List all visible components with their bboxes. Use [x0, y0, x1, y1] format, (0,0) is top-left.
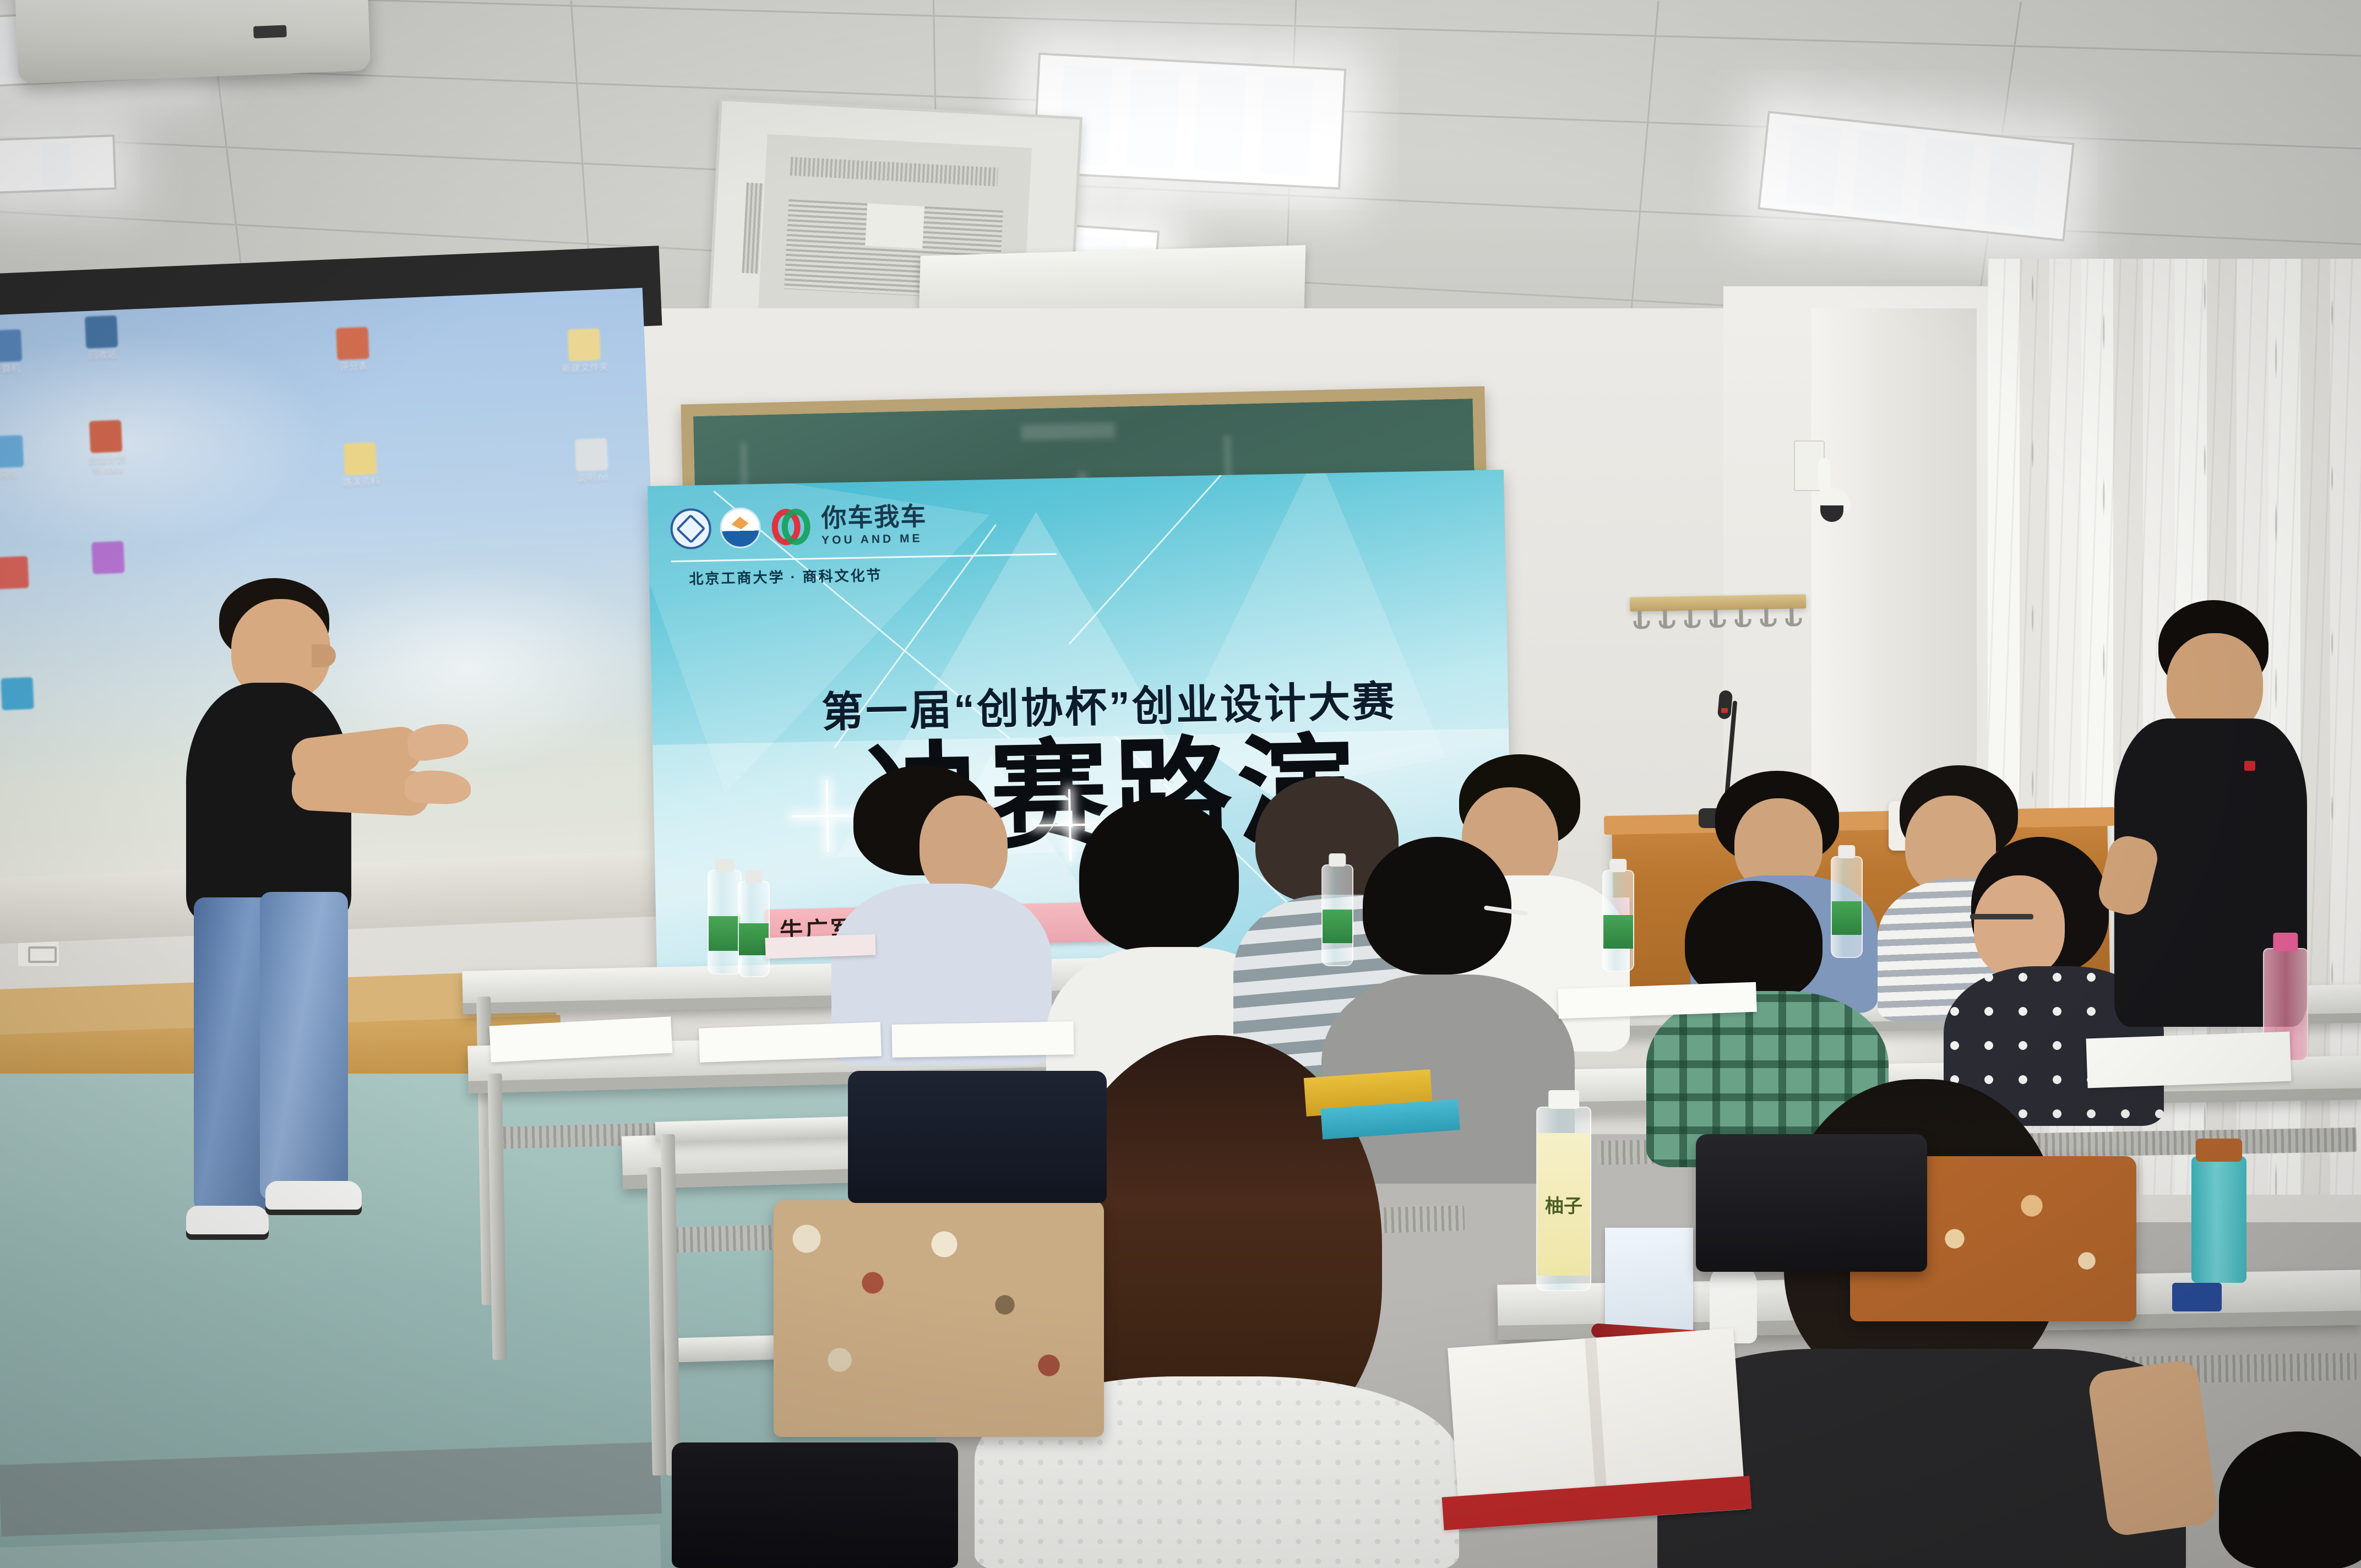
black-bag — [848, 1071, 1107, 1203]
arm — [2087, 1359, 2219, 1538]
mic-led-icon — [1721, 708, 1728, 713]
document-sheet — [765, 934, 875, 959]
water-bottle — [1602, 870, 1634, 972]
browser-icon — [0, 556, 29, 589]
app-icon — [1, 677, 34, 710]
text-file-icon — [575, 438, 608, 471]
computer-icon — [0, 329, 22, 362]
ceiling-light-panel — [0, 134, 117, 195]
desktop-icon[interactable]: 计算机 — [0, 329, 40, 377]
juice-bottle: 柚子 — [1536, 1107, 1591, 1291]
desktop-icon[interactable]: 说明.txt — [558, 437, 625, 485]
glasses-icon — [1970, 914, 2033, 919]
projector-lens — [253, 25, 287, 38]
banner-subtitle-top: 北京工商大学 · 商科文化节 — [689, 564, 883, 589]
desktop-icon[interactable] — [74, 540, 142, 575]
black-bag — [1696, 1134, 1927, 1272]
ceiling-projector: ON — [15, 0, 371, 84]
festival-logo-icon — [720, 507, 761, 548]
head — [1974, 875, 2065, 977]
desktop-icon[interactable] — [0, 556, 46, 590]
sponsor-ring-icon — [769, 505, 813, 548]
app-icon — [91, 541, 124, 574]
banner-logo-group: 你车我车 YOU AND ME — [670, 503, 927, 551]
hair — [2219, 1431, 2361, 1568]
desktop-icon[interactable] — [0, 676, 51, 711]
desktop-icon[interactable]: 新建文件夹 — [551, 328, 618, 375]
desktop-icon[interactable]: 回收站 — [68, 314, 135, 362]
document-icon — [89, 420, 122, 453]
water-bottle — [1831, 856, 1863, 958]
folder-icon — [568, 328, 601, 361]
hair — [1079, 798, 1239, 952]
foreground-audience-head — [2219, 1431, 2361, 1568]
folder-icon — [344, 442, 377, 475]
classroom-photo-scene: ON 计算机 回收站 网络 创业计划书.docx 评分表 — [0, 0, 2361, 1568]
desktop-icon[interactable]: 创业计划书.docx — [72, 419, 140, 477]
presenter-leg — [260, 892, 348, 1200]
thermos-bottle — [2191, 1156, 2246, 1283]
floral-backpack — [774, 1200, 1104, 1437]
presenter-shoe — [265, 1181, 362, 1215]
sponsor-name-cn: 你车我车 — [821, 503, 927, 531]
water-bottle — [738, 881, 770, 977]
presenter-leg — [194, 897, 271, 1211]
thermos-cap — [2196, 1139, 2242, 1162]
water-bottle — [708, 870, 742, 974]
presenter-hand — [405, 720, 470, 763]
document-sheet — [699, 1022, 882, 1062]
presenter-face-profile — [312, 644, 336, 667]
juice-bottle-label: 柚子 — [1537, 1133, 1590, 1275]
tissue-box — [1605, 1228, 1693, 1338]
document-sheet — [892, 1021, 1074, 1058]
network-icon — [0, 435, 24, 468]
document-sheet — [2086, 1032, 2292, 1088]
security-camera — [1794, 440, 1835, 523]
lighter — [2172, 1283, 2222, 1311]
audience-member — [837, 765, 1057, 1063]
water-bottle — [1321, 864, 1353, 966]
head — [920, 796, 1008, 897]
sponsor-name-en: YOU AND ME — [822, 532, 927, 547]
desktop-icon[interactable]: 网络 — [0, 434, 41, 482]
document-icon — [336, 327, 369, 360]
desktop-icon[interactable]: 路演资料 — [327, 442, 394, 489]
black-bag — [672, 1442, 958, 1568]
desktop-icon[interactable]: 评分表 — [319, 326, 387, 374]
presenter — [154, 578, 496, 1266]
recycle-bin-icon — [85, 315, 118, 349]
university-seal-icon — [670, 508, 711, 549]
shirt-logo — [2244, 761, 2255, 771]
presenter-shoe — [186, 1206, 269, 1240]
presenter-hand — [404, 770, 471, 805]
